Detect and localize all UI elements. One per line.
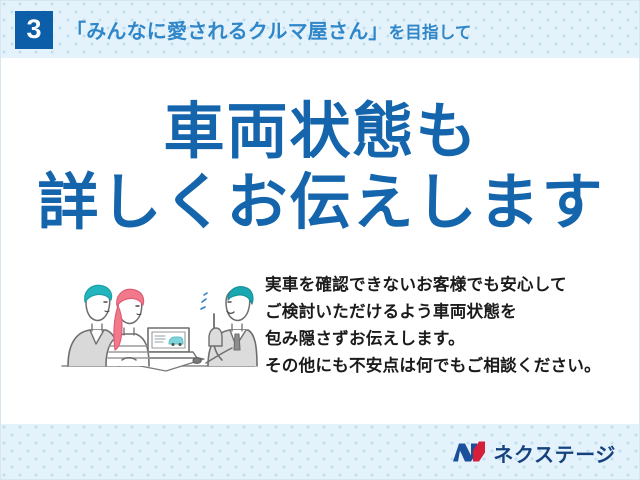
main-stage: 車両状態も 詳しくお伝えします xyxy=(1,58,640,424)
header-content: 3 「みんなに愛されるクルマ屋さん」を目指して xyxy=(1,1,640,58)
advertisement-card: 3 「みんなに愛されるクルマ屋さん」を目指して 車両状態も 詳しくお伝えします xyxy=(0,0,640,480)
nextage-n-mark-icon xyxy=(452,441,486,465)
headline-line-1: 車両状態も xyxy=(1,96,640,167)
consultation-scene-svg xyxy=(56,268,261,388)
brand-name: ネクステージ xyxy=(493,438,616,467)
consultation-illustration xyxy=(56,268,261,388)
page-title: 「みんなに愛されるクルマ屋さん」を目指して xyxy=(66,15,472,44)
body-copy: 実車を確認できないお客様でも安心して ご検討いただけるよう車両状態を 包み隠さず… xyxy=(265,272,625,380)
body-copy-line-4: その他にも不安点は何でもご相談ください。 xyxy=(265,353,625,380)
footer-band: ネクステージ xyxy=(1,424,640,480)
brand-logo: ネクステージ xyxy=(452,438,616,467)
headline-line-2: 詳しくお伝えします xyxy=(1,167,640,238)
content-row: 実車を確認できないお客様でも安心して ご検討いただけるよう車両状態を 包み隠さず… xyxy=(1,266,640,406)
body-copy-line-1: 実車を確認できないお客様でも安心して xyxy=(265,272,625,299)
header-band: 3 「みんなに愛されるクルマ屋さん」を目指して xyxy=(1,1,640,58)
body-copy-line-3: 包み隠さずお伝えします。 xyxy=(265,326,625,353)
headline: 車両状態も 詳しくお伝えします xyxy=(1,96,640,238)
page-title-main: 「みんなに愛されるクルマ屋さん」 xyxy=(66,21,389,43)
page-title-suffix: を目指して xyxy=(389,24,472,42)
body-copy-line-2: ご検討いただけるよう車両状態を xyxy=(265,299,625,326)
step-number-badge: 3 xyxy=(15,11,53,49)
